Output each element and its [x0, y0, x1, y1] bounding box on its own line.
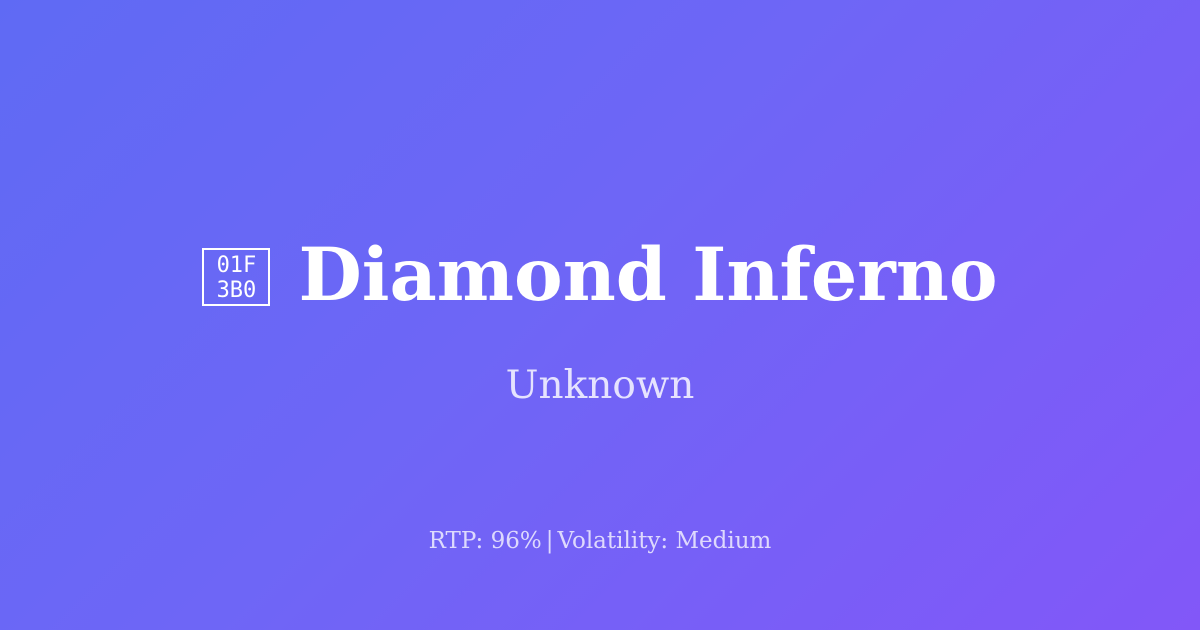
provider-label: Unknown — [0, 362, 1200, 410]
title-row: 01F 3B0 Diamond Inferno — [0, 232, 1200, 318]
page-title: Diamond Inferno — [298, 232, 997, 318]
rtp-value: RTP: 96% — [429, 528, 542, 554]
game-preview-card: 01F 3B0 Diamond Inferno Unknown RTP: 96%… — [0, 0, 1200, 630]
volatility-value: Volatility: Medium — [557, 528, 771, 554]
game-stats: RTP: 96%|Volatility: Medium — [0, 525, 1200, 557]
tofu-codepoint-line-2: 3B0 — [217, 278, 257, 303]
stats-separator: | — [542, 528, 558, 554]
slot-machine-icon: 01F 3B0 — [202, 248, 270, 306]
tofu-codepoint-line-1: 01F — [217, 253, 257, 278]
